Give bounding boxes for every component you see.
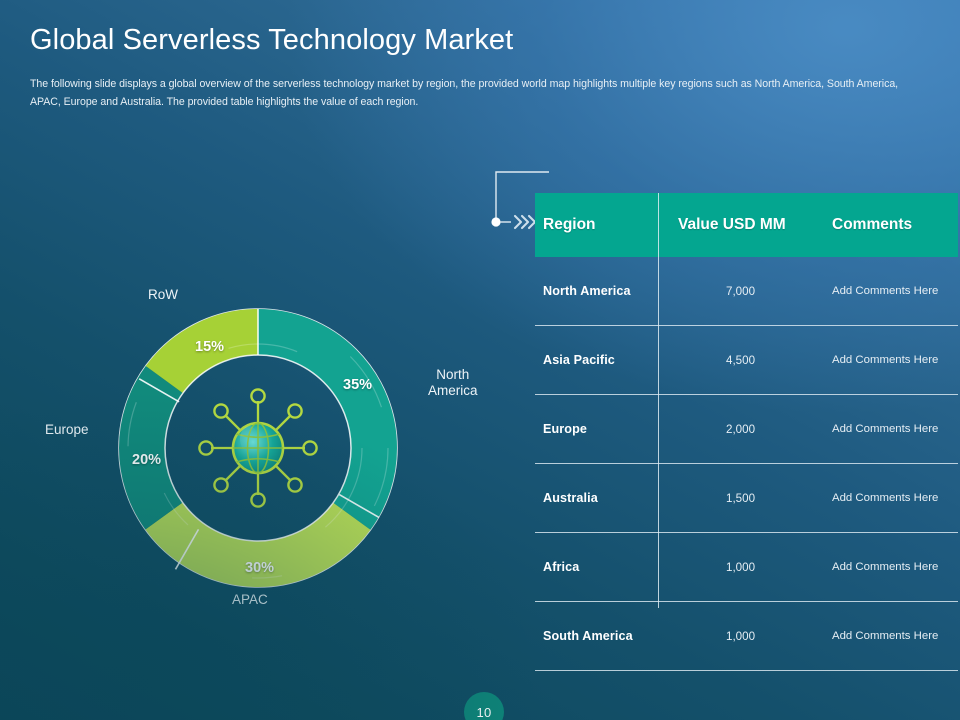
- table-cell-comment[interactable]: Add Comments Here: [830, 285, 958, 297]
- table-cell-comment[interactable]: Add Comments Here: [830, 423, 958, 435]
- table-cell-value: 7,000: [678, 285, 830, 298]
- network-globe-icon: [199, 389, 316, 506]
- donut-label-north-america: NorthAmerica: [428, 367, 478, 400]
- page-title: Global Serverless Technology Market: [30, 24, 513, 57]
- table-row[interactable]: South America 1,000 Add Comments Here: [535, 602, 958, 671]
- page-number-badge: 10: [464, 692, 504, 720]
- table-cell-comment[interactable]: Add Comments Here: [830, 630, 958, 642]
- table-cell-value: 2,000: [678, 423, 830, 436]
- donut-label-europe: Europe: [45, 422, 89, 438]
- table-cell-value: 1,500: [678, 492, 830, 505]
- table-cell-comment[interactable]: Add Comments Here: [830, 492, 958, 504]
- table-header-row: Region Value USD MM Comments: [535, 193, 958, 257]
- donut-label-apac: APAC: [232, 592, 268, 608]
- table-cell-comment[interactable]: Add Comments Here: [830, 354, 958, 366]
- table-row[interactable]: Asia Pacific 4,500 Add Comments Here: [535, 326, 958, 395]
- table-cell-region: North America: [535, 284, 678, 298]
- table-cell-region: South America: [535, 629, 678, 643]
- table-cell-value: 4,500: [678, 354, 830, 367]
- table-cell-region: Australia: [535, 491, 678, 505]
- globe-highlight: [240, 426, 258, 452]
- table-cell-region: Europe: [535, 422, 678, 436]
- table-row[interactable]: Europe 2,000 Add Comments Here: [535, 395, 958, 464]
- donut-value-row: 15%: [195, 339, 224, 355]
- table-header-comments: Comments: [830, 216, 958, 234]
- donut-value-europe: 20%: [132, 452, 161, 468]
- table-cell-comment[interactable]: Add Comments Here: [830, 561, 958, 573]
- table-header-region: Region: [535, 216, 678, 234]
- donut-value-apac: 30%: [245, 560, 274, 576]
- slide-canvas: Global Serverless Technology Market The …: [0, 0, 960, 720]
- donut-chart: 35% 30% 20% 15%: [108, 298, 408, 598]
- table-cell-region: Asia Pacific: [535, 353, 678, 367]
- donut-value-north-america: 35%: [343, 377, 372, 393]
- table-row[interactable]: North America 7,000 Add Comments Here: [535, 257, 958, 326]
- table-cell-value: 1,000: [678, 630, 830, 643]
- table-row[interactable]: Australia 1,500 Add Comments Here: [535, 464, 958, 533]
- table-row[interactable]: Africa 1,000 Add Comments Here: [535, 533, 958, 602]
- connector-dot: [491, 217, 500, 226]
- table-cell-value: 1,000: [678, 561, 830, 574]
- regions-table: Region Value USD MM Comments North Ameri…: [535, 193, 958, 671]
- table-header-value: Value USD MM: [678, 216, 830, 234]
- chevrons-icon: [515, 216, 535, 228]
- page-subtitle: The following slide displays a global ov…: [30, 76, 920, 112]
- donut-label-row: RoW: [148, 287, 178, 303]
- table-cell-region: Africa: [535, 560, 678, 574]
